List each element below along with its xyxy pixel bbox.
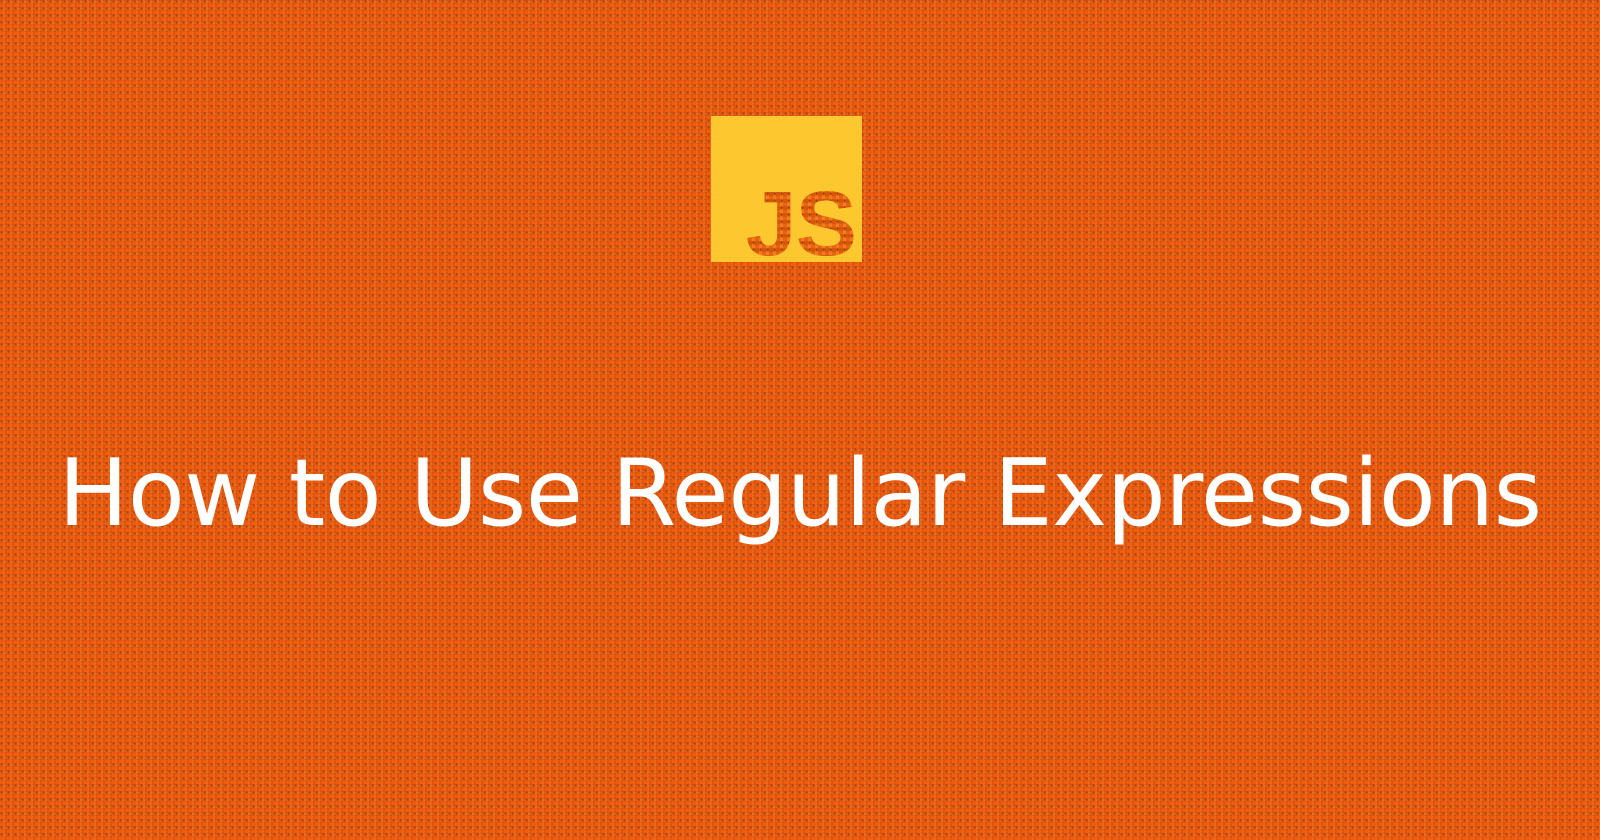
javascript-logo: JS JS xyxy=(711,116,862,262)
page-title: How to Use Regular Expressions xyxy=(58,446,1541,541)
banner-root: JS JS How to Use Regular Expressions xyxy=(0,0,1600,840)
headline-container: How to Use Regular Expressions xyxy=(0,384,1600,603)
javascript-logo-label: JS xyxy=(745,178,856,270)
